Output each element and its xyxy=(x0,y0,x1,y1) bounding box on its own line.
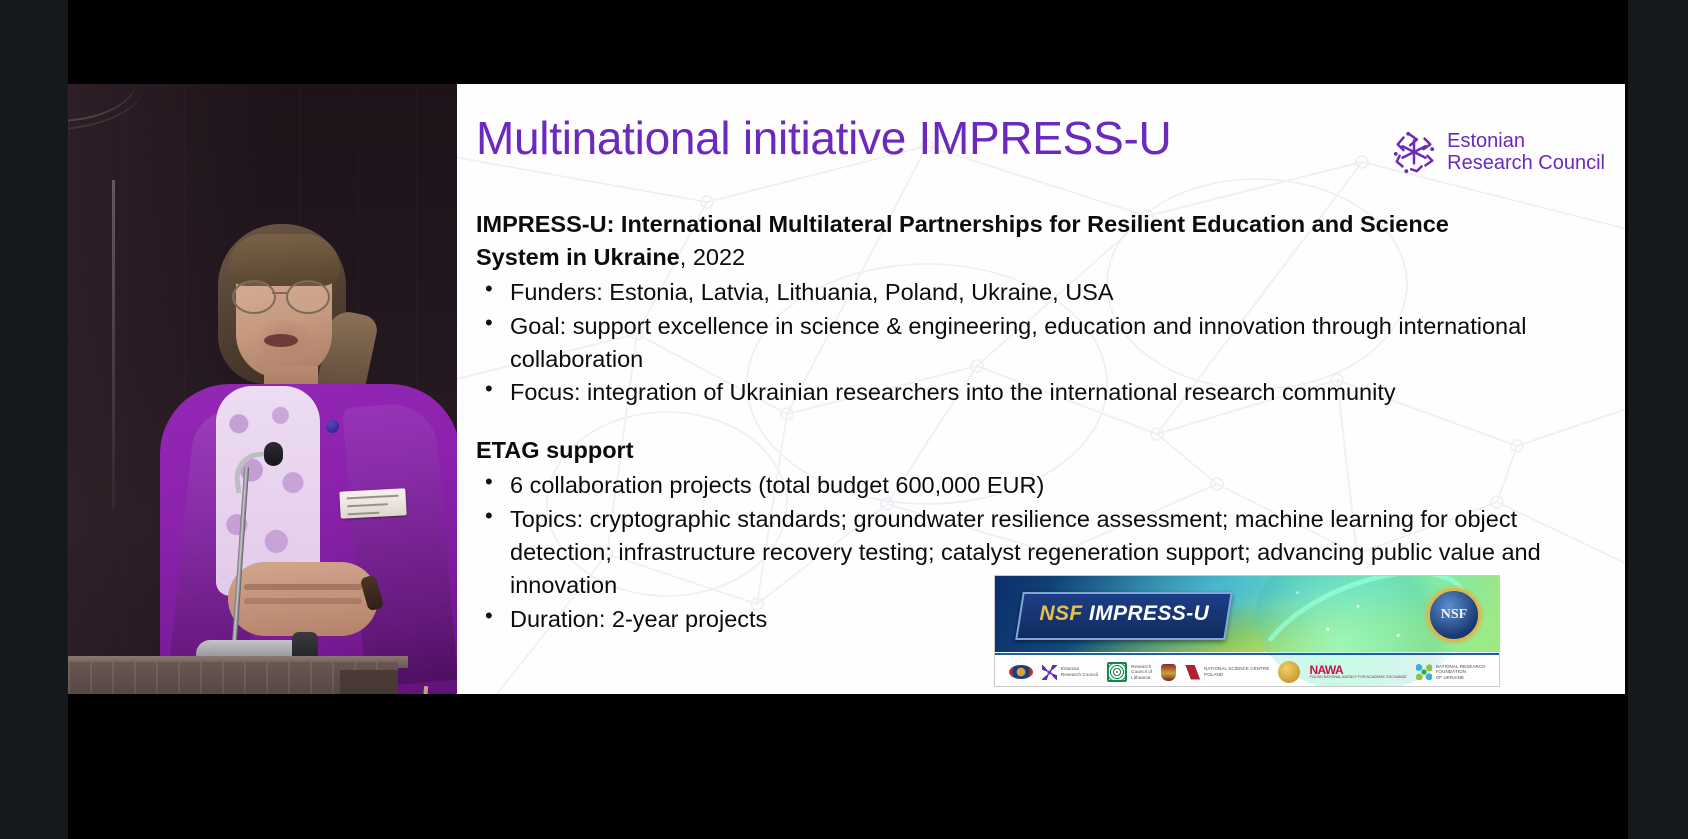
partner-logo-lithuania: Research Council of Lithuania xyxy=(1107,662,1152,682)
partner-label: Research Council of Lithuania xyxy=(1131,664,1152,681)
banner-artwork: NSF IMPRESS-U NSF xyxy=(995,576,1499,652)
list-item: Focus: integration of Ukrainian research… xyxy=(476,376,1607,409)
partner-logo-latvia xyxy=(1161,664,1176,681)
list-item: 6 collaboration projects (total budget 6… xyxy=(476,469,1607,502)
slide-body: IMPRESS-U: International Multilateral Pa… xyxy=(476,208,1607,637)
etag-mark-icon xyxy=(1042,665,1057,680)
estonian-research-council-wordmark: Estonian Research Council xyxy=(1447,130,1605,175)
banner-title-nsf: NSF xyxy=(1039,602,1082,625)
partner-logo-nawa: NAWAPOLISH NATIONAL AGENCY FOR ACADEMIC … xyxy=(1309,664,1406,680)
microphone-capsule xyxy=(264,442,283,466)
banner-divider xyxy=(995,653,1499,655)
banner-title-impress: IMPRESS-U xyxy=(1089,602,1209,625)
list-item: Funders: Estonia, Latvia, Lithuania, Pol… xyxy=(476,276,1607,309)
screen-root: Multinational initiative IMPRESS-U xyxy=(0,0,1688,839)
nrfu-mark-icon xyxy=(1416,664,1432,680)
section-heading: ETAG support xyxy=(476,434,1607,467)
banner-partner-logos: Estonian Research Council Research Counc… xyxy=(995,658,1499,686)
partner-label: Estonian Research Council xyxy=(1061,666,1098,677)
ncn-mark-icon xyxy=(1185,665,1200,680)
speaker-glasses xyxy=(230,280,340,310)
estonian-research-council-mark xyxy=(1391,129,1437,175)
backdrop-pole xyxy=(112,180,115,510)
lead-paragraph: IMPRESS-U: International Multilateral Pa… xyxy=(476,208,1486,274)
speaker-hands xyxy=(228,562,378,636)
list-item: Goal: support excellence in science & en… xyxy=(476,310,1607,376)
partner-logo-ukraine-nas xyxy=(1009,665,1033,679)
nsf-impress-u-banner: NSF IMPRESS-U NSF Estonian Research Coun… xyxy=(994,575,1500,687)
nsf-seal-icon: NSF xyxy=(1427,588,1481,642)
partner-logo-nrfu: NATIONAL RESEARCH FOUNDATION OF UKRAINE xyxy=(1416,664,1486,681)
estonian-research-council-logo: Estonian Research Council xyxy=(1391,129,1605,175)
lead-year: , 2022 xyxy=(680,244,745,270)
speaker-camera-feed xyxy=(68,84,457,694)
lead-bold: IMPRESS-U: International Multilateral Pa… xyxy=(476,211,1449,270)
speaker-fringe xyxy=(228,234,340,286)
latvia-crest-icon xyxy=(1161,664,1176,681)
speaker-mouth xyxy=(264,334,298,347)
partner-label: NATIONAL RESEARCH FOUNDATION OF UKRAINE xyxy=(1436,664,1486,681)
glasses-lens-right xyxy=(286,280,330,314)
glasses-lens-left xyxy=(232,280,276,314)
partner-logo-gold-seal xyxy=(1278,661,1300,683)
partner-label: NATIONAL SCIENCE CENTRE POLAND xyxy=(1204,666,1269,677)
slide-title: Multinational initiative IMPRESS-U xyxy=(476,114,1236,162)
partner-logo-ncn-poland: NATIONAL SCIENCE CENTRE POLAND xyxy=(1185,665,1269,680)
section-spacer xyxy=(476,410,1607,434)
glasses-bridge xyxy=(272,292,288,294)
lectern-side-panel xyxy=(340,670,398,694)
banner-title-plaque: NSF IMPRESS-U xyxy=(1015,592,1233,640)
partner-logo-etag: Estonian Research Council xyxy=(1042,665,1098,680)
lithuania-mark-icon xyxy=(1107,662,1127,682)
name-badge xyxy=(339,488,406,518)
presentation-slide: Multinational initiative IMPRESS-U xyxy=(457,84,1625,694)
erc-line-1: Estonian xyxy=(1447,130,1605,152)
gold-seal-icon xyxy=(1278,661,1300,683)
nawa-subtitle: POLISH NATIONAL AGENCY FOR ACADEMIC EXCH… xyxy=(1309,676,1406,680)
top-bullet-list: Funders: Estonia, Latvia, Lithuania, Pol… xyxy=(476,276,1607,410)
erc-line-2: Research Council xyxy=(1447,152,1605,174)
nawa-wordmark: NAWAPOLISH NATIONAL AGENCY FOR ACADEMIC … xyxy=(1309,664,1406,680)
lapel-pin xyxy=(326,420,339,433)
ukraine-nas-seal-icon xyxy=(1009,665,1033,679)
